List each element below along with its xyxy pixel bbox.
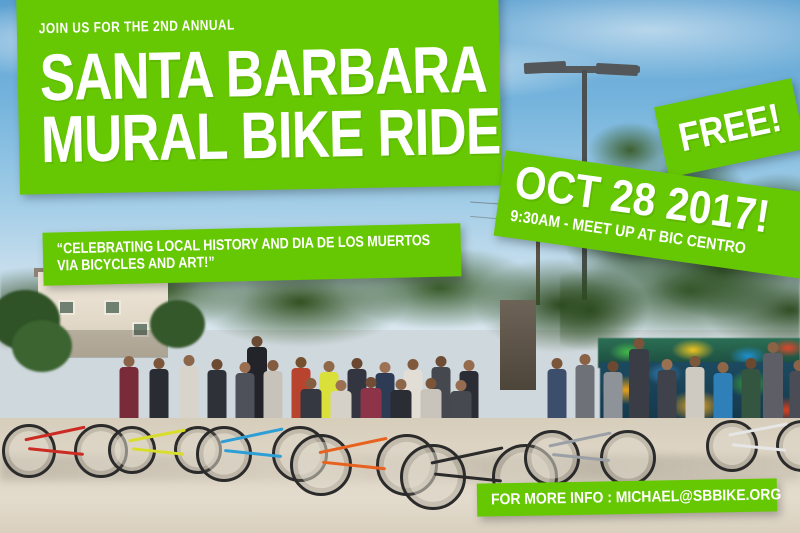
person [628,338,650,422]
person [574,354,595,422]
free-badge-label: FREE! [675,98,784,159]
person [178,355,199,422]
person [450,380,472,422]
headline-banner: JOIN US FOR THE 2ND ANNUAL SANTA BARBARA… [16,0,502,195]
person [420,378,442,422]
person [656,359,677,422]
street-lamp-head-left [524,61,567,74]
person [360,377,382,422]
title-line-2: MURAL BIKE RIDE [40,104,409,168]
person [684,356,705,422]
person [148,358,169,422]
person [602,361,623,422]
person [740,358,761,422]
person [390,379,412,422]
person [762,342,784,422]
quote-banner: “CELEBRATING LOCAL HISTORY AND DIA DE LO… [42,223,461,285]
event-flyer: JOIN US FOR THE 2ND ANNUAL SANTA BARBARA… [0,0,800,533]
person [788,360,800,422]
person [262,360,283,422]
person [712,362,733,422]
contact-email-text: FOR MORE INFO : MICHAEL@SBBIKE.ORG [491,487,782,508]
person [206,359,227,422]
contact-banner: FOR MORE INFO : MICHAEL@SBBIKE.ORG [477,478,778,516]
street-lamp-head-right [596,63,639,76]
person [234,362,255,422]
person [300,378,322,422]
crowd-of-people [0,292,800,422]
person [330,380,352,422]
person [118,356,139,422]
person [546,358,567,422]
